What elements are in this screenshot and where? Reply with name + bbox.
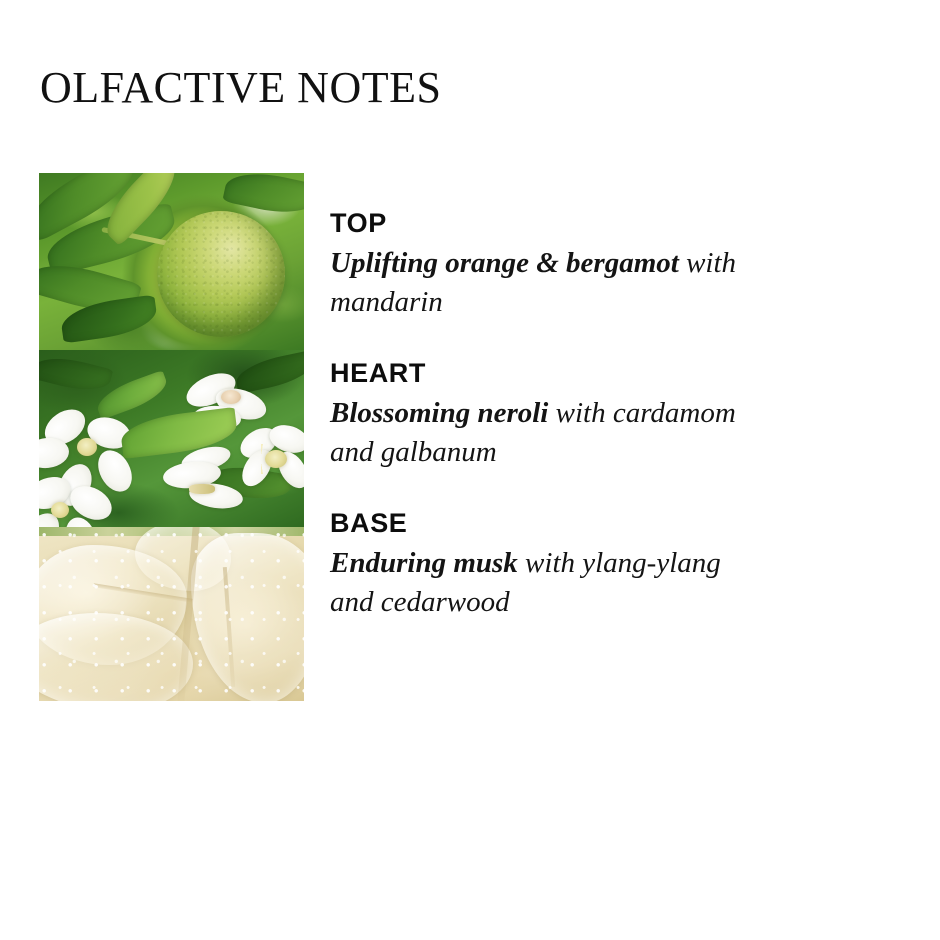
- leaf-shape: [39, 351, 113, 397]
- note-label-heart: HEART: [330, 356, 890, 390]
- note-image-base: [39, 527, 304, 701]
- note-description-heart: Blossoming neroli with cardamom and galb…: [330, 394, 770, 472]
- note-label-top: TOP: [330, 206, 890, 240]
- note-accent-base: Enduring musk: [330, 547, 518, 579]
- note-image-column: [39, 173, 304, 701]
- note-accent-heart: Blossoming neroli: [330, 397, 548, 429]
- note-block-base: BASE Enduring musk with ylang-ylang and …: [330, 506, 890, 622]
- flower-center: [221, 390, 241, 404]
- citrus-fruit-shape: [157, 211, 285, 337]
- note-image-top: [39, 173, 304, 350]
- flower-center: [189, 484, 215, 494]
- blossom-flower: [239, 426, 304, 502]
- note-description-base: Enduring musk with ylang-ylang and cedar…: [330, 544, 770, 622]
- note-description-top: Uplifting orange & bergamot with mandari…: [330, 244, 770, 322]
- note-image-heart: [39, 350, 304, 527]
- stamen-shape: [261, 444, 301, 474]
- flower-center: [77, 438, 97, 456]
- note-block-heart: HEART Blossoming neroli with cardamom an…: [330, 356, 890, 472]
- flower-center: [51, 502, 69, 518]
- note-block-top: TOP Uplifting orange & bergamot with man…: [330, 206, 890, 322]
- sparkle-overlay: [39, 527, 304, 701]
- blossom-flower: [39, 478, 125, 527]
- note-label-base: BASE: [330, 506, 890, 540]
- page-title: OLFACTIVE NOTES: [40, 62, 441, 114]
- olfactive-notes-list: TOP Uplifting orange & bergamot with man…: [330, 206, 890, 622]
- olfactive-notes-page: OLFACTIVE NOTES: [0, 0, 940, 940]
- note-accent-top: Uplifting orange & bergamot: [330, 247, 679, 279]
